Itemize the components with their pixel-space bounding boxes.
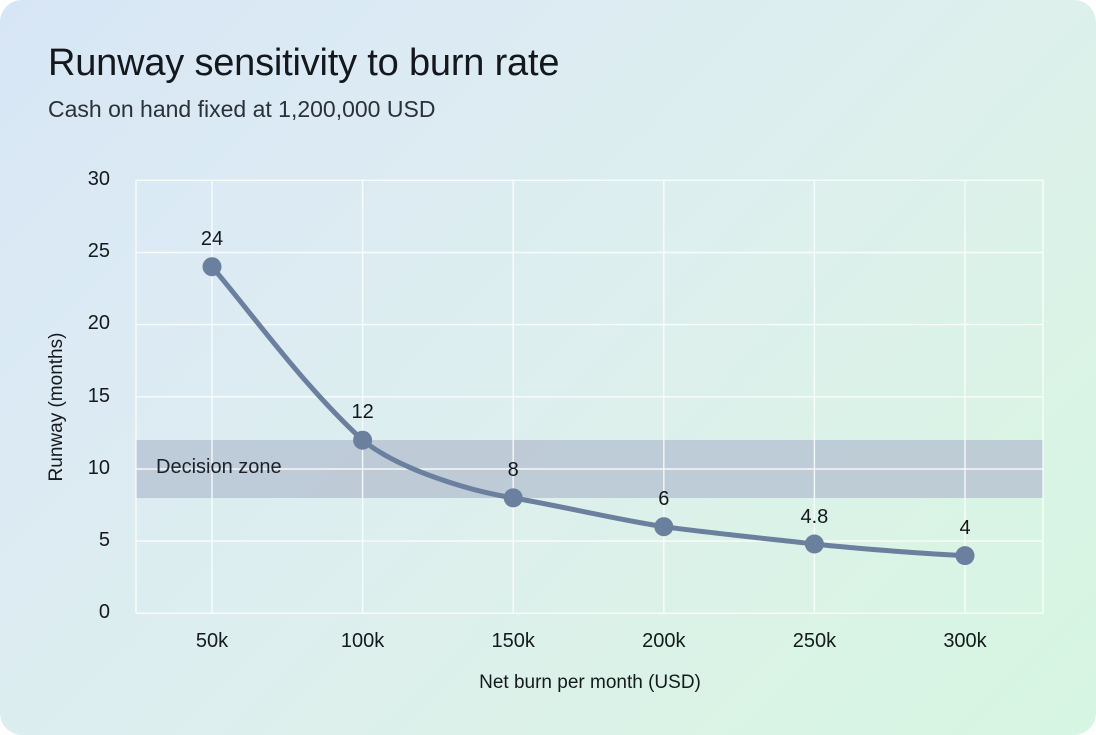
x-tick-label: 150k xyxy=(453,630,573,653)
gridlines-horizontal xyxy=(136,180,1043,613)
data-point[interactable] xyxy=(956,546,975,565)
series-markers xyxy=(203,257,975,565)
y-axis-title: Runway (months) xyxy=(46,307,68,507)
data-point[interactable] xyxy=(353,431,372,450)
plot-area: 30 25 20 15 10 5 0 Runway (months) 50k 1… xyxy=(0,0,1096,735)
y-tick-label: 10 xyxy=(66,457,110,480)
x-tick-label: 50k xyxy=(152,630,272,653)
y-tick-label: 20 xyxy=(66,312,110,335)
data-point[interactable] xyxy=(805,535,824,554)
data-point-label: 24 xyxy=(172,228,252,251)
chart-card: Runway sensitivity to burn rate Cash on … xyxy=(0,0,1096,735)
x-tick-label: 300k xyxy=(905,630,1025,653)
decision-zone-label: Decision zone xyxy=(156,456,282,479)
x-tick-label: 200k xyxy=(604,630,724,653)
data-point-label: 8 xyxy=(473,459,553,482)
y-tick-label: 25 xyxy=(66,240,110,263)
x-tick-label: 250k xyxy=(754,630,874,653)
data-point-label: 12 xyxy=(323,401,403,424)
y-tick-label: 30 xyxy=(66,168,110,191)
data-point[interactable] xyxy=(504,488,523,507)
data-point-label: 6 xyxy=(624,488,704,511)
data-point[interactable] xyxy=(654,517,673,536)
y-tick-label: 0 xyxy=(66,601,110,624)
data-point-label: 4 xyxy=(925,517,1005,540)
chart-svg xyxy=(0,0,1096,735)
data-point-label: 4.8 xyxy=(774,506,854,529)
x-axis-title: Net burn per month (USD) xyxy=(136,672,1044,694)
y-tick-label: 5 xyxy=(66,529,110,552)
data-point[interactable] xyxy=(203,257,222,276)
x-tick-label: 100k xyxy=(303,630,423,653)
y-tick-label: 15 xyxy=(66,385,110,408)
